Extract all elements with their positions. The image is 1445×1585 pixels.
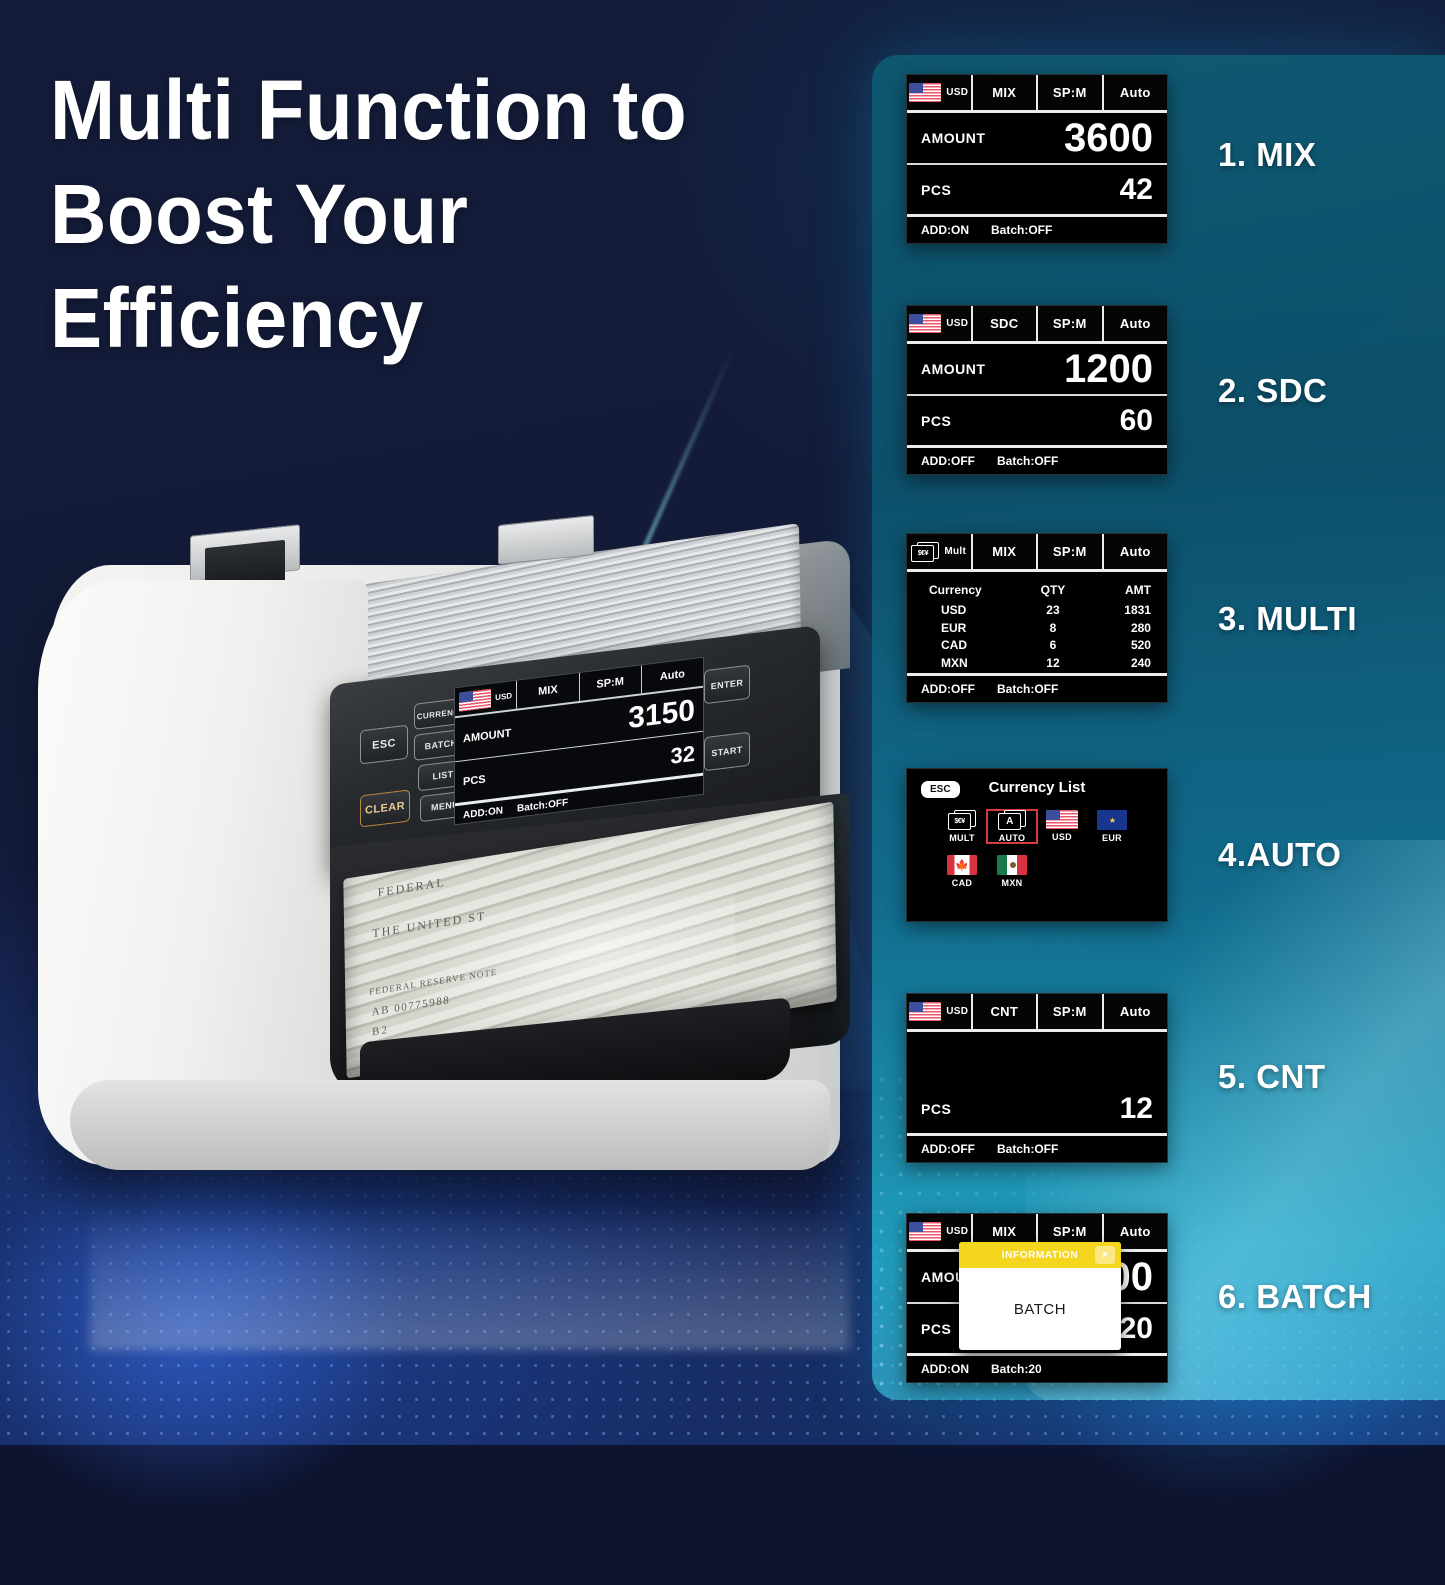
lcd-screen-mix: USD MIX SP:M Auto AMOUNT 3600 PCS 42 ADD… [906, 74, 1168, 244]
lcd-speed: SP:M [1038, 306, 1104, 341]
mult-currency-icon [911, 542, 939, 562]
clear-button[interactable]: CLEAR [360, 789, 410, 827]
machine-left-shell [38, 580, 368, 1160]
lcd-currency-cell: Mult [907, 534, 973, 569]
currency-option-eur[interactable]: EUR [1087, 810, 1137, 843]
lcd-pcs-label: PCS [921, 182, 951, 198]
lcd-batch-status: Batch:OFF [997, 1142, 1058, 1156]
lcd-batch-status: Batch:20 [991, 1362, 1042, 1376]
table-cell-currency: CAD [923, 637, 1019, 654]
mx-flag-icon [997, 855, 1027, 875]
lcd-detect: Auto [1104, 534, 1168, 569]
currency-option-cad[interactable]: CAD [937, 855, 987, 888]
start-button[interactable]: START [704, 732, 750, 772]
us-flag-icon [909, 1002, 941, 1021]
lcd-empty-row [907, 1032, 1167, 1084]
lcd-currency-label: USD [946, 87, 968, 98]
table-cell-qty: 6 [1019, 637, 1087, 654]
machine-lcd-amount-value: 3150 [628, 693, 695, 735]
multi-currency-table: Currency QTY AMT USD 23 1831 EUR 8 280 C… [907, 572, 1167, 676]
table-cell-amt: 520 [1087, 637, 1151, 654]
lcd-amount-label: AMOUNT [921, 130, 985, 146]
lcd-pcs-value: 60 [1120, 406, 1153, 436]
machine-reflection [90, 1170, 850, 1350]
lcd-batch-status: Batch:OFF [997, 454, 1058, 468]
lcd-pcs-label: PCS [921, 413, 951, 429]
lcd-speed: SP:M [1038, 534, 1104, 569]
esc-button[interactable]: ESC [921, 781, 960, 798]
table-cell-currency: EUR [923, 620, 1019, 637]
machine-lcd-batch-status: Batch:OFF [517, 797, 568, 814]
machine-base [70, 1080, 830, 1170]
lcd-amount-value: 1200 [1064, 349, 1153, 389]
lcd-footer: ADD:OFF Batch:OFF [907, 1136, 1167, 1162]
lcd-add-status: ADD:ON [921, 223, 969, 237]
step-label-cnt: 5. CNT [1218, 1058, 1326, 1096]
machine-lcd-pcs-label: PCS [463, 773, 486, 788]
lcd-mode: MIX [973, 75, 1039, 110]
lcd-screen-batch: USD MIX SP:M Auto AMOUNT 200 PCS 20 ADD:… [906, 1213, 1168, 1383]
headline-line-3: Efficiency [50, 266, 757, 370]
lcd-footer: ADD:OFF Batch:OFF [907, 448, 1167, 474]
currency-option-label: USD [1052, 832, 1072, 842]
lcd-currency-label: USD [946, 318, 968, 329]
lcd-currency-cell: USD [907, 994, 973, 1029]
machine-lcd-amount-label: AMOUNT [463, 727, 511, 745]
step-label-auto: 4.AUTO [1218, 836, 1341, 874]
mult-currency-icon [948, 810, 976, 830]
table-cell-currency: MXN [923, 655, 1019, 672]
auto-detect-icon [998, 810, 1026, 830]
currency-option-mxn[interactable]: MXN [987, 855, 1037, 888]
machine-lcd-add-status: ADD:ON [463, 805, 503, 821]
table-cell-currency: USD [923, 602, 1019, 619]
lcd-mode: CNT [973, 994, 1039, 1029]
dialog-body-text: BATCH [959, 1268, 1121, 1350]
table-header-currency: Currency [923, 582, 1019, 599]
lcd-pcs-value: 20 [1120, 1314, 1153, 1344]
lcd-screen-multi: Mult MIX SP:M Auto Currency QTY AMT USD … [906, 533, 1168, 703]
step-label-mix: 1. MIX [1218, 136, 1316, 174]
esc-button[interactable]: ESC [360, 725, 408, 765]
lcd-mode: SDC [973, 306, 1039, 341]
table-cell-qty: 8 [1019, 620, 1087, 637]
lcd-pcs-row: PCS 60 [907, 396, 1167, 448]
lcd-pcs-row: PCS 42 [907, 165, 1167, 217]
button-column-left-outer: ESC CLEAR [360, 724, 410, 827]
banknote-text-top: FEDERAL [377, 875, 445, 901]
table-header-amt: AMT [1087, 582, 1151, 599]
table-cell-qty: 12 [1019, 655, 1087, 672]
table-row: USD 23 1831 [923, 602, 1151, 619]
lcd-currency-cell: USD [907, 75, 973, 110]
table-cell-qty: 23 [1019, 602, 1087, 619]
money-counter-machine: ESC CLEAR CURRENCY BATCH LIST MENU MODE … [30, 520, 890, 1220]
lcd-footer: ADD:OFF Batch:OFF [907, 676, 1167, 702]
lcd-amount-label: AMOUNT [921, 361, 985, 377]
headline-line-2: Boost Your [50, 162, 757, 266]
lcd-pcs-value: 42 [1120, 175, 1153, 205]
lcd-pcs-value: 12 [1120, 1094, 1153, 1124]
lcd-screen-currency-list: ESC Currency List MULT AUTO USD EUR CAD [906, 768, 1168, 922]
lcd-currency-label: Mult [944, 546, 966, 557]
lcd-footer: ADD:ON Batch:OFF [907, 217, 1167, 243]
currency-list-panel: ESC Currency List MULT AUTO USD EUR CAD [907, 769, 1167, 921]
us-flag-icon [1046, 810, 1078, 829]
lcd-add-status: ADD:OFF [921, 682, 975, 696]
machine-lcd-currency-label: USD [495, 691, 512, 702]
currency-option-auto[interactable]: AUTO [987, 810, 1037, 843]
lcd-currency-label: USD [946, 1006, 968, 1017]
headline-line-1: Multi Function to [50, 58, 757, 162]
table-cell-amt: 280 [1087, 620, 1151, 637]
lcd-status-bar: USD SDC SP:M Auto [907, 306, 1167, 344]
currency-option-label: AUTO [999, 833, 1026, 843]
table-cell-amt: 1831 [1087, 602, 1151, 619]
currency-option-label: MXN [1002, 878, 1023, 888]
table-header-qty: QTY [1019, 582, 1087, 599]
lcd-add-status: ADD:OFF [921, 1142, 975, 1156]
lcd-pcs-row: PCS 12 [907, 1084, 1167, 1136]
step-label-multi: 3. MULTI [1218, 600, 1357, 638]
currency-option-usd[interactable]: USD [1037, 810, 1087, 843]
step-label-batch: 6. BATCH [1218, 1278, 1372, 1316]
dialog-header: INFORMATION × [959, 1242, 1121, 1268]
ca-flag-icon [947, 855, 977, 875]
us-flag-icon [909, 83, 941, 102]
lcd-speed: SP:M [1038, 994, 1104, 1029]
enter-button[interactable]: ENTER [704, 665, 750, 705]
button-column-right-outer: ENTER START [704, 665, 750, 772]
table-row: MXN 12 240 [923, 655, 1151, 672]
page-title: Multi Function to Boost Your Efficiency [50, 58, 757, 370]
table-row: CAD 6 520 [923, 637, 1151, 654]
us-flag-icon [459, 688, 491, 711]
lcd-speed: SP:M [1038, 75, 1104, 110]
machine-lcd-pcs-value: 32 [671, 740, 695, 769]
currency-list-grid: MULT AUTO USD EUR CAD MXN [907, 796, 1167, 900]
lcd-screen-sdc: USD SDC SP:M Auto AMOUNT 1200 PCS 60 ADD… [906, 305, 1168, 475]
lcd-batch-status: Batch:OFF [997, 682, 1058, 696]
lcd-amount-row: AMOUNT 3600 [907, 113, 1167, 165]
lcd-amount-value: 3600 [1064, 118, 1153, 158]
feature-panel [872, 55, 1445, 1400]
lcd-currency-cell: USD [907, 306, 973, 341]
step-label-sdc: 2. SDC [1218, 372, 1327, 410]
currency-option-label: EUR [1102, 833, 1122, 843]
table-row: EUR 8 280 [923, 620, 1151, 637]
eu-flag-icon [1097, 810, 1127, 830]
lcd-pcs-label: PCS [921, 1321, 951, 1337]
lcd-detect: Auto [1104, 306, 1168, 341]
lcd-detect: Auto [1104, 75, 1168, 110]
lcd-detect: Auto [1104, 994, 1168, 1029]
us-flag-icon [909, 314, 941, 333]
lcd-pcs-label: PCS [921, 1101, 951, 1117]
lcd-footer: ADD:ON Batch:20 [907, 1356, 1167, 1382]
lcd-amount-row: AMOUNT 1200 [907, 344, 1167, 396]
dialog-title: INFORMATION [1002, 1250, 1078, 1261]
information-dialog: INFORMATION × BATCH [959, 1242, 1121, 1350]
banknote-serial-suffix: B2 [372, 1024, 389, 1039]
lcd-add-status: ADD:ON [921, 1362, 969, 1376]
lcd-status-bar: USD MIX SP:M Auto [907, 75, 1167, 113]
table-header-row: Currency QTY AMT [923, 582, 1151, 599]
close-icon[interactable]: × [1095, 1246, 1115, 1264]
lcd-status-bar: USD CNT SP:M Auto [907, 994, 1167, 1032]
table-cell-amt: 240 [1087, 655, 1151, 672]
us-flag-icon [909, 1222, 941, 1241]
lcd-status-bar: Mult MIX SP:M Auto [907, 534, 1167, 572]
currency-option-label: CAD [952, 878, 972, 888]
currency-option-label: MULT [949, 833, 975, 843]
lcd-currency-label: USD [946, 1226, 968, 1237]
lcd-add-status: ADD:OFF [921, 454, 975, 468]
lcd-screen-cnt: USD CNT SP:M Auto PCS 12 ADD:OFF Batch:O… [906, 993, 1168, 1163]
lcd-mode: MIX [973, 534, 1039, 569]
lcd-batch-status: Batch:OFF [991, 223, 1052, 237]
currency-option-mult[interactable]: MULT [937, 810, 987, 843]
